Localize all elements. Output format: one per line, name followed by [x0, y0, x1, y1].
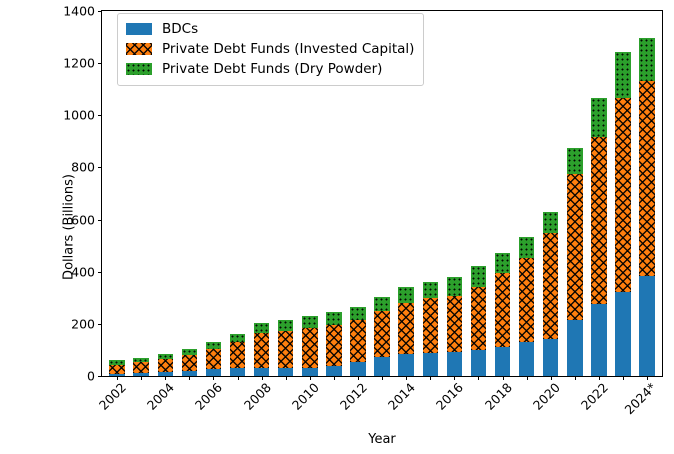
- bar-segment-dry-powder[interactable]: [398, 287, 413, 303]
- bar-stack[interactable]: [423, 282, 438, 376]
- bar-segment-bdcs[interactable]: [567, 320, 582, 376]
- y-tick-label: 1200: [63, 56, 95, 71]
- x-tick-label: 2014: [385, 380, 418, 413]
- bar-stack[interactable]: [350, 307, 365, 376]
- bar-segment-bdcs[interactable]: [326, 366, 341, 376]
- bar-stack[interactable]: [519, 237, 534, 376]
- x-tick-mark: [575, 376, 576, 380]
- bar-stack[interactable]: [471, 266, 486, 376]
- x-tick-label: 2012: [337, 380, 370, 413]
- legend-item-invested-capital: Private Debt Funds (Invested Capital): [126, 39, 414, 59]
- bar-segment-dry-powder[interactable]: [639, 38, 654, 81]
- legend-item-bdcs: BDCs: [126, 19, 414, 39]
- bar-stack[interactable]: [447, 277, 462, 376]
- x-tick-mark: [286, 376, 287, 380]
- bar-segment-invested-capital[interactable]: [374, 311, 389, 357]
- bar-segment-invested-capital[interactable]: [495, 273, 510, 346]
- bar-stack[interactable]: [133, 358, 148, 376]
- x-tick-mark: [430, 376, 431, 380]
- bar-segment-bdcs[interactable]: [591, 304, 606, 376]
- bar-stack[interactable]: [158, 354, 173, 376]
- bar-segment-invested-capital[interactable]: [182, 355, 197, 371]
- bar-segment-bdcs[interactable]: [374, 357, 389, 376]
- x-tick-mark: [238, 376, 239, 380]
- legend-label-invested-capital: Private Debt Funds (Invested Capital): [162, 41, 414, 57]
- legend-item-dry-powder: Private Debt Funds (Dry Powder): [126, 59, 414, 79]
- chart-figure: Dollars (Billions) 020040060080010001200…: [0, 0, 674, 454]
- bar-stack[interactable]: [254, 323, 269, 376]
- bar-stack[interactable]: [567, 148, 582, 376]
- bar-group[interactable]: [466, 11, 490, 376]
- bar-segment-bdcs[interactable]: [398, 354, 413, 376]
- bar-segment-dry-powder[interactable]: [326, 312, 341, 325]
- bar-stack[interactable]: [206, 342, 221, 376]
- bar-segment-bdcs[interactable]: [519, 342, 534, 376]
- bar-segment-bdcs[interactable]: [423, 353, 438, 376]
- x-tick-label: 2002: [96, 380, 129, 413]
- bar-segment-bdcs[interactable]: [350, 362, 365, 376]
- bar-stack[interactable]: [398, 287, 413, 376]
- chart-legend: BDCs Private Debt Funds (Invested Capita…: [117, 13, 424, 86]
- bar-group[interactable]: [491, 11, 515, 376]
- bar-segment-invested-capital[interactable]: [615, 98, 630, 292]
- bar-segment-invested-capital[interactable]: [567, 174, 582, 319]
- y-tick-label: 0: [87, 369, 95, 384]
- bar-stack[interactable]: [543, 212, 558, 376]
- bar-stack[interactable]: [374, 297, 389, 376]
- bar-segment-invested-capital[interactable]: [591, 137, 606, 303]
- legend-label-bdcs: BDCs: [162, 21, 198, 37]
- bar-segment-invested-capital[interactable]: [423, 298, 438, 353]
- bar-stack[interactable]: [639, 38, 654, 376]
- bar-segment-dry-powder[interactable]: [567, 148, 582, 174]
- bar-segment-dry-powder[interactable]: [374, 297, 389, 311]
- x-tick-label: 2024*: [622, 380, 660, 418]
- bar-segment-invested-capital[interactable]: [302, 328, 317, 367]
- bar-group[interactable]: [587, 11, 611, 376]
- x-tick-mark: [189, 376, 190, 380]
- y-tick-label: 1000: [63, 108, 95, 123]
- x-tick-mark: [334, 376, 335, 380]
- legend-swatch-bdcs: [126, 23, 152, 35]
- x-tick-label: 2004: [144, 380, 177, 413]
- bar-segment-dry-powder[interactable]: [230, 334, 245, 342]
- bar-segment-invested-capital[interactable]: [206, 349, 221, 369]
- bar-group[interactable]: [635, 11, 659, 376]
- x-tick-mark: [623, 376, 624, 380]
- bar-stack[interactable]: [615, 52, 630, 376]
- bar-segment-invested-capital[interactable]: [326, 325, 341, 366]
- bar-segment-dry-powder[interactable]: [206, 342, 221, 349]
- x-tick-mark: [478, 376, 479, 380]
- bar-segment-bdcs[interactable]: [639, 276, 654, 376]
- bar-segment-bdcs[interactable]: [302, 368, 317, 376]
- y-tick-label: 200: [71, 316, 95, 331]
- bar-segment-bdcs[interactable]: [447, 352, 462, 376]
- legend-swatch-invested-capital: [126, 43, 152, 55]
- x-tick-label: 2016: [433, 380, 466, 413]
- bar-stack[interactable]: [495, 253, 510, 376]
- y-tick-label: 400: [71, 264, 95, 279]
- bar-segment-dry-powder[interactable]: [278, 320, 293, 331]
- bar-segment-dry-powder[interactable]: [471, 266, 486, 287]
- bar-segment-dry-powder[interactable]: [591, 98, 606, 137]
- bar-segment-bdcs[interactable]: [615, 292, 630, 376]
- bar-segment-dry-powder[interactable]: [519, 237, 534, 258]
- bar-segment-invested-capital[interactable]: [158, 359, 173, 372]
- bar-stack[interactable]: [591, 98, 606, 376]
- legend-label-dry-powder: Private Debt Funds (Dry Powder): [162, 61, 382, 77]
- bar-segment-invested-capital[interactable]: [519, 258, 534, 342]
- bar-segment-bdcs[interactable]: [495, 347, 510, 376]
- bar-stack[interactable]: [302, 316, 317, 376]
- bar-stack[interactable]: [278, 320, 293, 376]
- bar-segment-dry-powder[interactable]: [615, 52, 630, 98]
- y-tick-label: 600: [71, 212, 95, 227]
- bar-segment-dry-powder[interactable]: [423, 282, 438, 298]
- x-tick-label: 2010: [289, 380, 322, 413]
- bar-segment-dry-powder[interactable]: [302, 316, 317, 328]
- bar-segment-bdcs[interactable]: [471, 350, 486, 376]
- x-tick-mark: [141, 376, 142, 380]
- bar-segment-invested-capital[interactable]: [230, 342, 245, 368]
- bar-segment-bdcs[interactable]: [230, 368, 245, 376]
- x-tick-label: 2022: [578, 380, 611, 413]
- bar-segment-bdcs[interactable]: [254, 368, 269, 376]
- bar-group[interactable]: [563, 11, 587, 376]
- bar-segment-invested-capital[interactable]: [254, 333, 269, 368]
- legend-swatch-dry-powder: [126, 63, 152, 75]
- bar-group[interactable]: [539, 11, 563, 376]
- bar-segment-dry-powder[interactable]: [543, 212, 558, 233]
- bar-group[interactable]: [442, 11, 466, 376]
- bar-segment-invested-capital[interactable]: [398, 303, 413, 354]
- x-tick-label: 2018: [481, 380, 514, 413]
- bar-segment-dry-powder[interactable]: [254, 323, 269, 333]
- x-tick-mark: [382, 376, 383, 380]
- bar-segment-invested-capital[interactable]: [447, 296, 462, 352]
- bar-segment-invested-capital[interactable]: [133, 362, 148, 373]
- bar-segment-bdcs[interactable]: [543, 339, 558, 376]
- bar-stack[interactable]: [326, 312, 341, 376]
- x-tick-mark: [527, 376, 528, 380]
- y-tick-label: 1400: [63, 4, 95, 19]
- bar-segment-invested-capital[interactable]: [639, 81, 654, 276]
- y-tick-mark: [98, 376, 102, 377]
- y-tick-label: 800: [71, 160, 95, 175]
- bar-segment-invested-capital[interactable]: [543, 233, 558, 339]
- bar-group[interactable]: [515, 11, 539, 376]
- bar-segment-invested-capital[interactable]: [278, 331, 293, 368]
- bar-stack[interactable]: [230, 334, 245, 376]
- bar-group[interactable]: [611, 11, 635, 376]
- bar-segment-invested-capital[interactable]: [350, 320, 365, 362]
- x-tick-label: 2006: [192, 380, 225, 413]
- bar-segment-dry-powder[interactable]: [350, 307, 365, 321]
- bar-segment-invested-capital[interactable]: [471, 287, 486, 350]
- x-tick-label: 2008: [241, 380, 274, 413]
- bar-stack[interactable]: [182, 349, 197, 376]
- bar-segment-dry-powder[interactable]: [447, 277, 462, 295]
- bar-stack[interactable]: [109, 360, 124, 376]
- bar-segment-bdcs[interactable]: [278, 368, 293, 376]
- x-tick-label: 2020: [530, 380, 563, 413]
- x-axis-label: Year: [101, 432, 663, 447]
- bar-segment-invested-capital[interactable]: [109, 365, 124, 374]
- bar-segment-dry-powder[interactable]: [495, 253, 510, 273]
